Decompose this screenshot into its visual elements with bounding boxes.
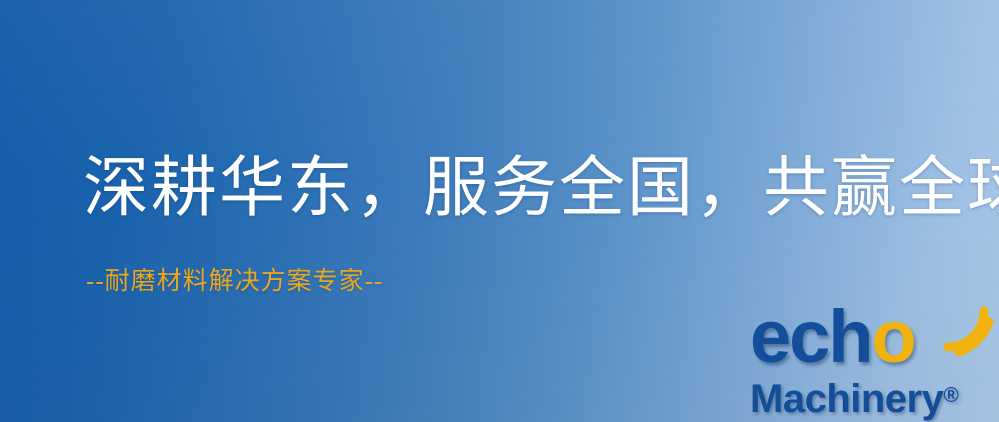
logo-company-name: Machinery® xyxy=(750,374,959,421)
banner-subtitle: --耐磨材料解决方案专家-- xyxy=(86,266,383,298)
logo-wordmark-prefix: ech xyxy=(750,295,872,378)
company-logo[interactable]: echo Machinery® xyxy=(746,298,999,422)
registered-trademark-icon: ® xyxy=(943,384,958,407)
signal-waves-icon xyxy=(932,295,994,357)
banner-headline: 深耕华东，服务全国，共赢全球 xyxy=(83,150,999,228)
logo-wordmark-o: o xyxy=(872,295,915,378)
logo-company-text: Machinery xyxy=(750,377,943,421)
logo-wordmark: echo xyxy=(750,298,915,376)
promo-banner: 深耕华东，服务全国，共赢全球 --耐磨材料解决方案专家-- echo Machi… xyxy=(0,0,999,422)
